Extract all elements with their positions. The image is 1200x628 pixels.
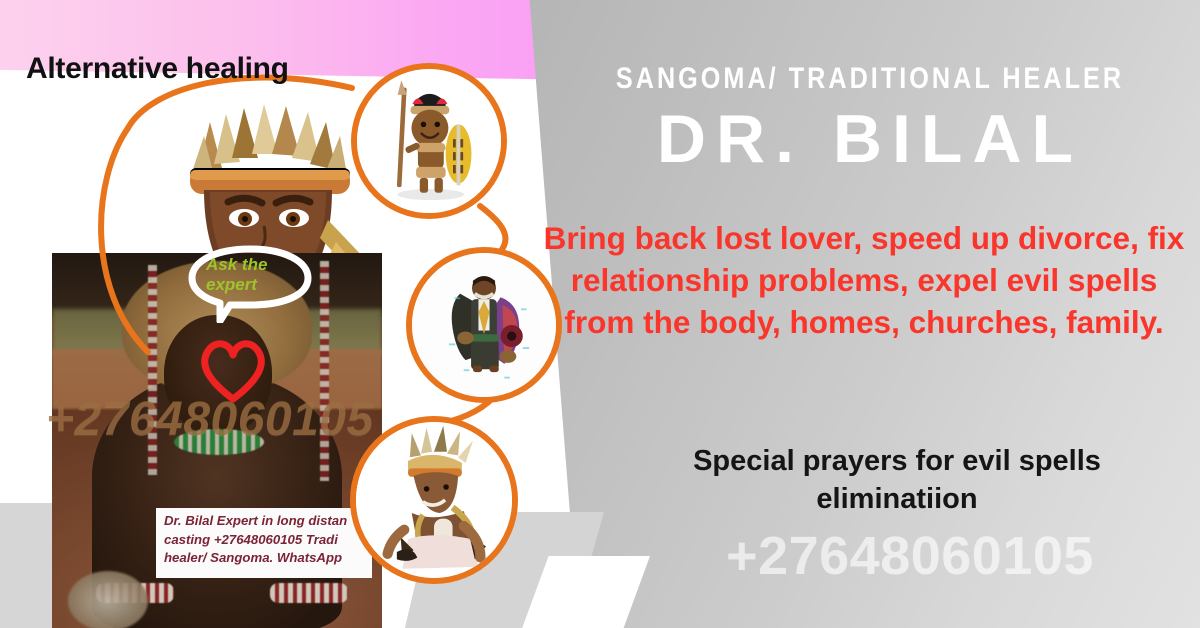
traditional-healer-figure-icon [406,247,562,403]
caption-line-1: Dr. Bilal Expert in long distan [164,512,366,531]
poster-canvas: Alternative healing [0,0,1200,628]
photo-caption-box: Dr. Bilal Expert in long distan casting … [156,508,372,578]
heart-icon [196,333,270,403]
crouching-warrior-icon [350,416,518,584]
caption-line-3: healer/ Sangoma. WhatsApp [164,549,366,568]
speech-bubble-icon: Ask the expert [186,245,314,323]
subtitle-kicker: SANGOMA/ TRADITIONAL HEALER [615,62,1126,96]
caption-line-2: casting +27648060105 Tradi [164,531,366,550]
healer-name: DR. BILAL [560,100,1180,178]
phone-watermark: +27648060105 [640,525,1180,587]
services-text: Bring back lost lover, speed up divorce,… [540,218,1188,344]
page-title: Alternative healing [26,52,289,86]
prayers-text: Special prayers for evil spells eliminat… [616,442,1178,519]
zulu-warrior-cartoon-icon [351,63,507,219]
speech-bubble-label: Ask the expert [206,255,306,294]
